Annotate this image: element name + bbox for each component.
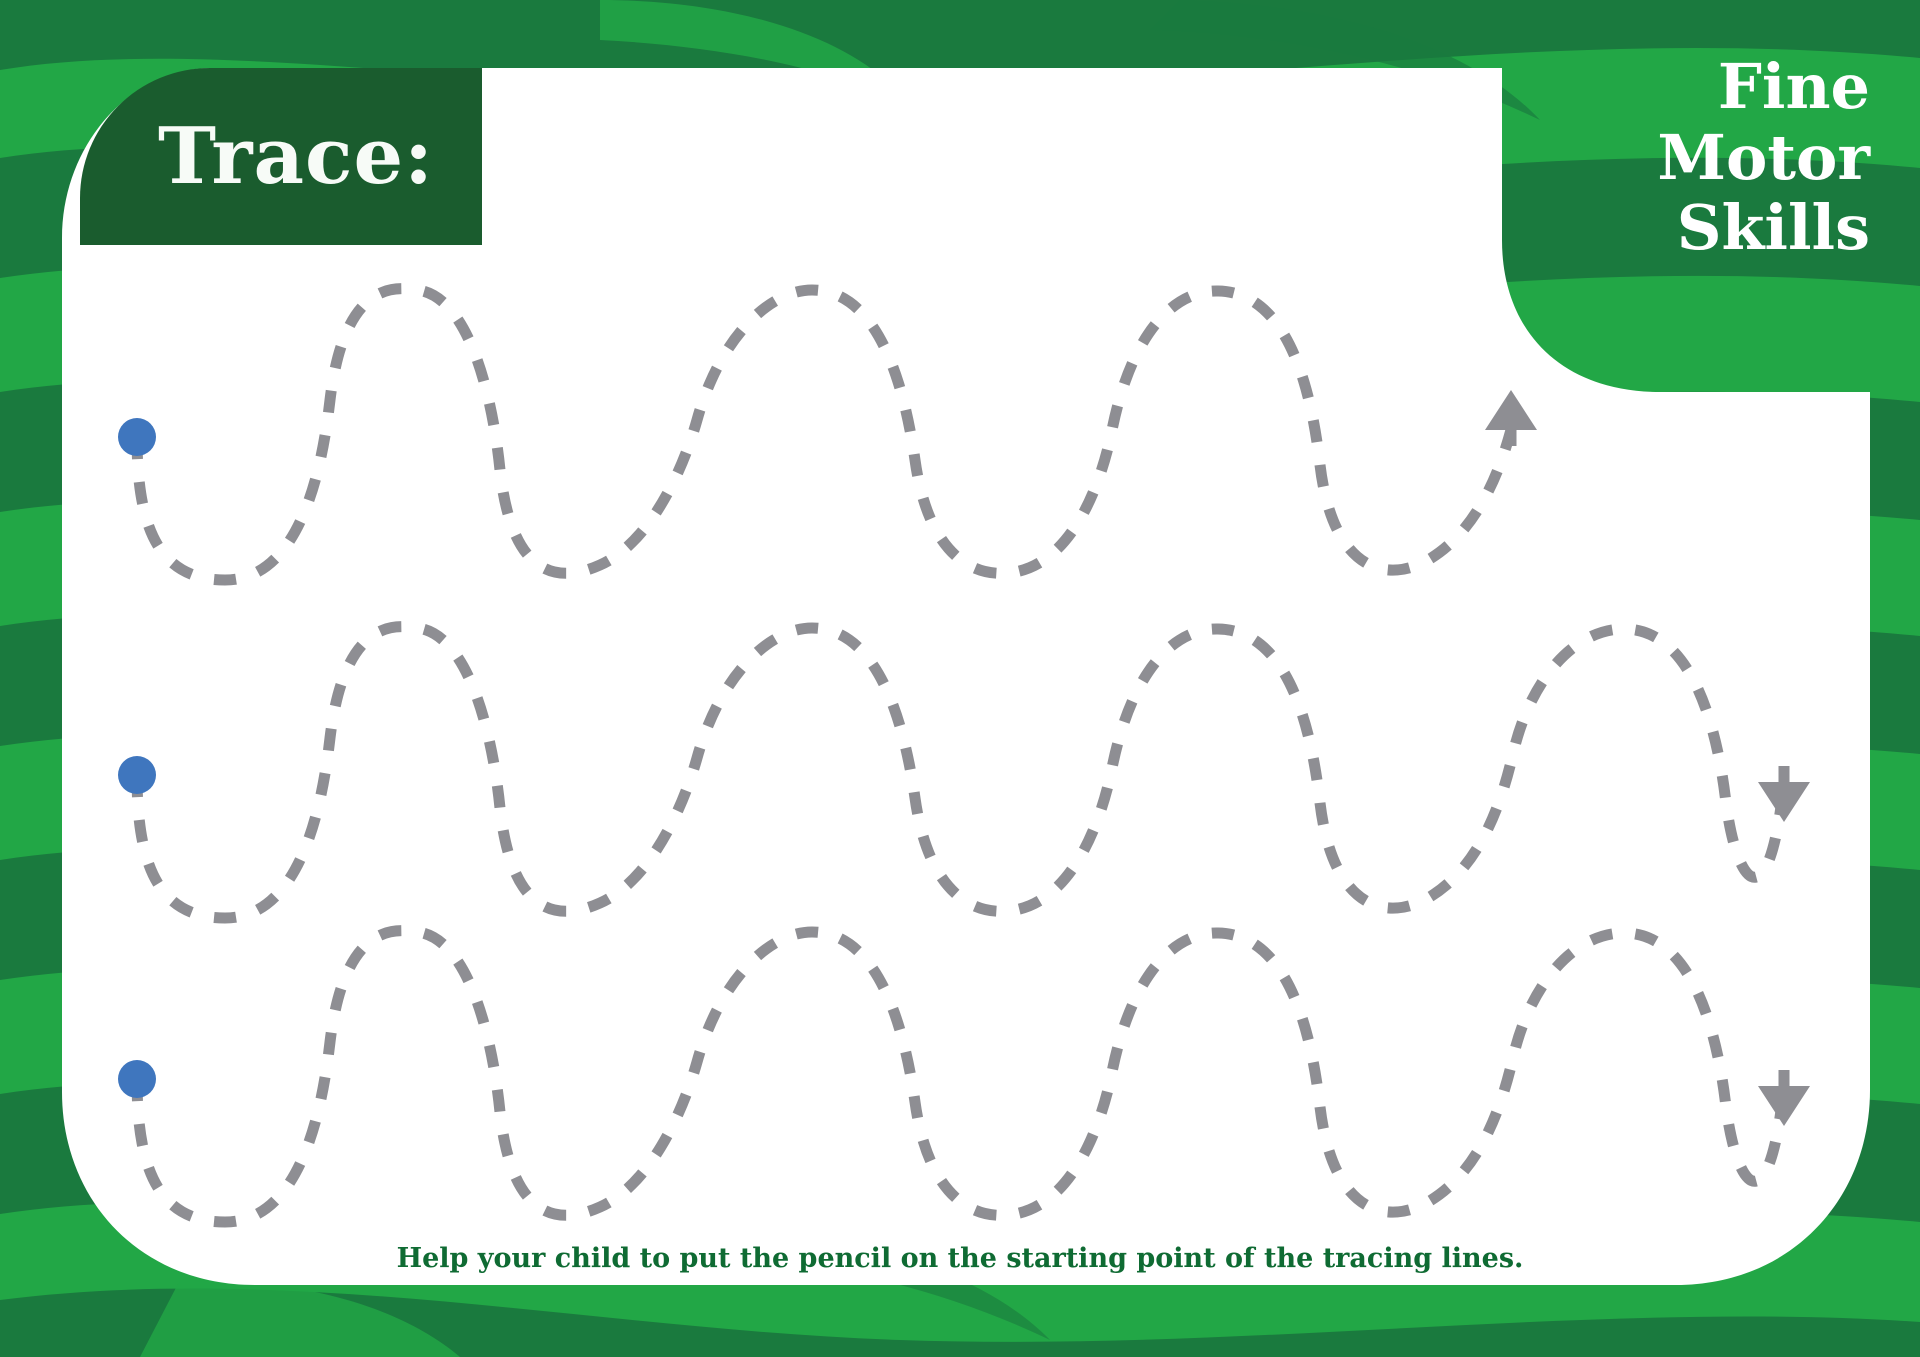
trace-title-label: Trace: <box>158 118 434 196</box>
tracing-row-3[interactable] <box>118 931 1810 1222</box>
heading-line-3: Skills <box>1657 193 1870 264</box>
trace-title-badge: Trace: <box>80 68 482 245</box>
worksheet-page: Trace: Fine Motor Skills Help your child… <box>0 0 1920 1357</box>
heading-line-1: Fine <box>1657 52 1870 123</box>
start-dot-2[interactable] <box>118 756 156 794</box>
heading-line-2: Motor <box>1657 123 1870 194</box>
direction-arrow-1 <box>1485 390 1537 446</box>
direction-arrow-3 <box>1758 1070 1810 1126</box>
direction-arrow-2 <box>1758 766 1810 822</box>
tracing-path-2[interactable] <box>137 627 1784 918</box>
tracing-row-2[interactable] <box>118 627 1810 918</box>
start-dot-3[interactable] <box>118 1060 156 1098</box>
start-dot-1[interactable] <box>118 418 156 456</box>
tracing-path-1[interactable] <box>137 289 1511 580</box>
footer-instruction-text: Help your child to put the pencil on the… <box>0 1243 1920 1274</box>
tracing-path-3[interactable] <box>137 931 1784 1222</box>
fine-motor-skills-heading: Fine Motor Skills <box>1657 52 1870 264</box>
tracing-row-1[interactable] <box>118 289 1537 580</box>
